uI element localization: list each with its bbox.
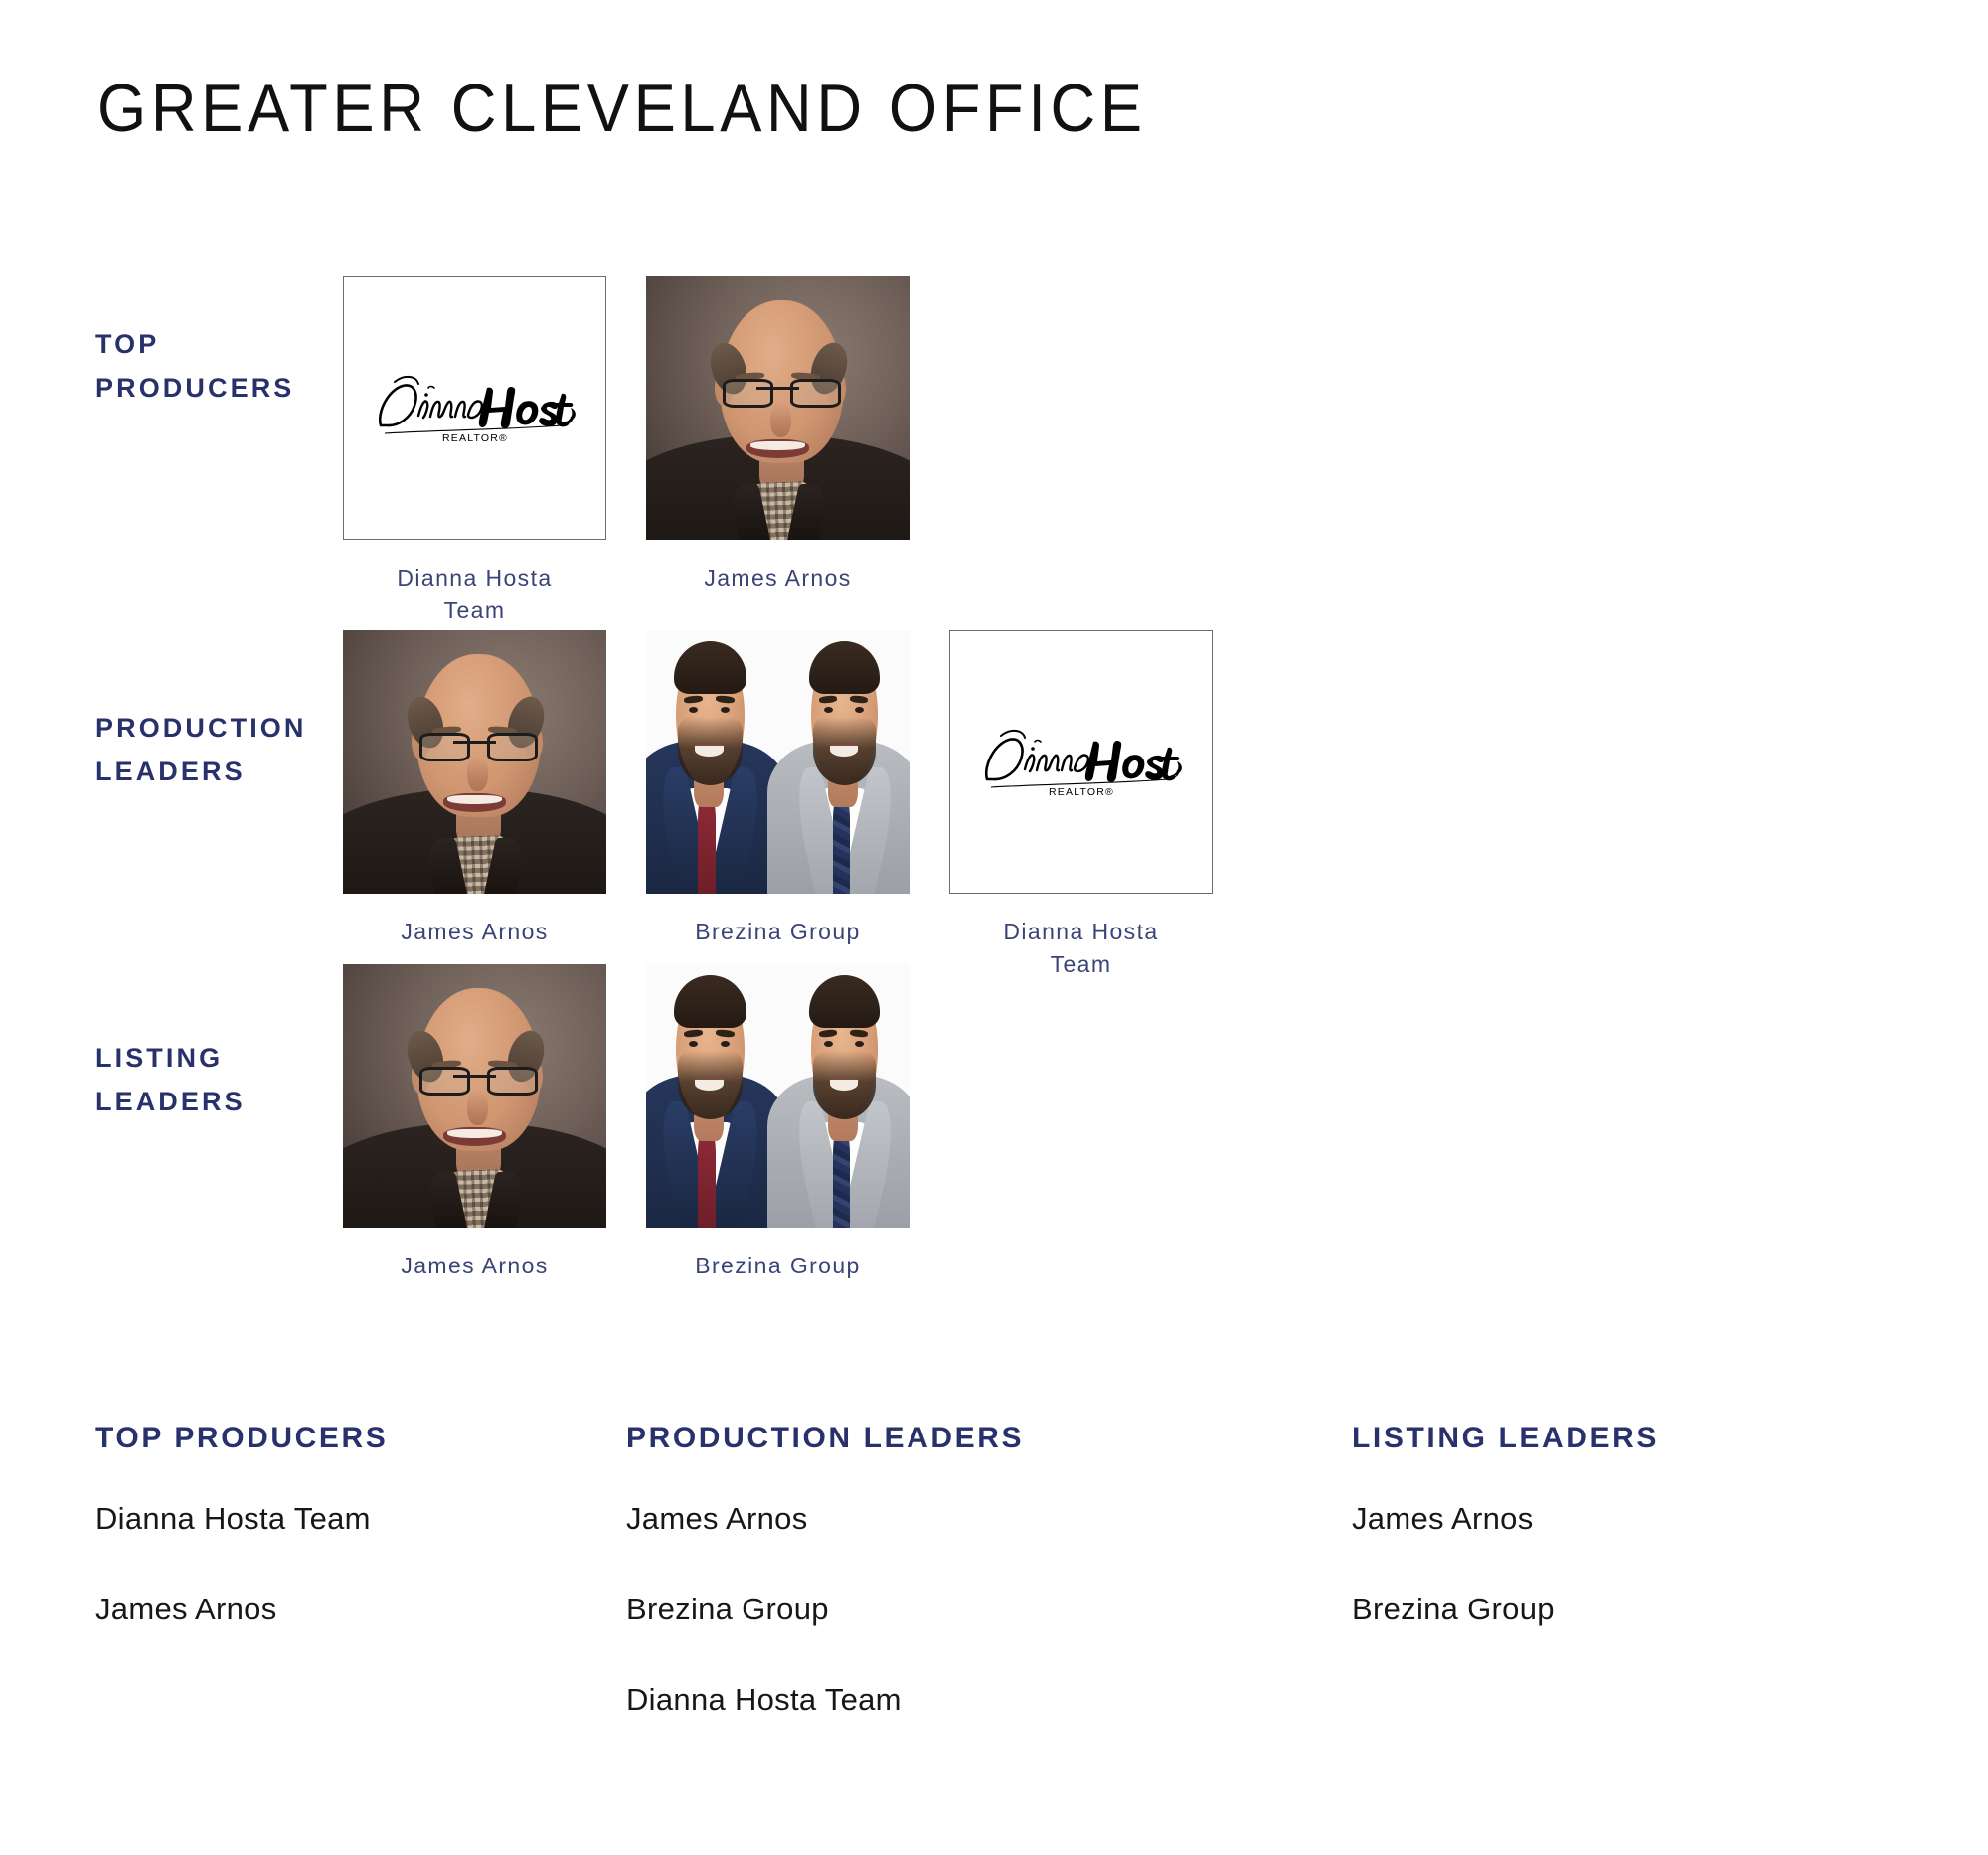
list-item: Brezina Group (1352, 1592, 1988, 1627)
award-tile[interactable]: REALTOR® Dianna Hosta Team (343, 276, 606, 626)
summary-column-top-producers: TOP PRODUCERS Dianna Hosta Team James Ar… (0, 1422, 626, 1772)
award-tile-caption: James Arnos (343, 1250, 606, 1282)
james-arnos-portrait (343, 964, 606, 1228)
row-label-listing-leaders: LISTING LEADERS (0, 944, 343, 1123)
dianna-hosta-logo: REALTOR® (344, 372, 605, 445)
summary-column-listing-leaders: LISTING LEADERS James Arnos Brezina Grou… (1352, 1422, 1988, 1772)
row-label-line-2: LEADERS (95, 751, 343, 794)
row-label-line-1: TOP (95, 323, 343, 367)
dianna-hosta-logo-tile[interactable]: REALTOR® (343, 276, 606, 540)
list-item: Dianna Hosta Team (626, 1682, 1352, 1718)
award-tile[interactable]: Brezina Group (646, 630, 910, 948)
award-rows: TOP PRODUCERS (0, 253, 1988, 1282)
brezina-group-portrait (646, 630, 910, 894)
award-tile-caption: Brezina Group (646, 916, 910, 948)
award-tile-caption-line-1: James Arnos (343, 916, 606, 948)
row-label-line-1: PRODUCTION (95, 707, 343, 751)
james-arnos-portrait (646, 276, 910, 540)
james-arnos-portrait (343, 630, 606, 894)
james-arnos-photo-tile[interactable] (646, 276, 910, 540)
brezina-group-photo-tile[interactable] (646, 630, 910, 894)
award-tile[interactable]: REALTOR® Dianna Hosta Team (949, 630, 1213, 980)
award-tile[interactable]: Brezina Group (646, 964, 910, 1282)
list-item: James Arnos (95, 1592, 626, 1627)
list-item: Dianna Hosta Team (95, 1501, 626, 1537)
logo-subtext: REALTOR® (1049, 786, 1114, 798)
award-tile[interactable]: James Arnos (343, 964, 606, 1282)
list-item: James Arnos (1352, 1501, 1988, 1537)
award-tile-caption: James Arnos (343, 916, 606, 948)
james-arnos-photo-tile[interactable] (343, 964, 606, 1228)
award-tile-caption-line-1: Brezina Group (646, 916, 910, 948)
award-tiles-production-leaders: James Arnos (343, 611, 1213, 980)
dianna-hosta-logo: REALTOR® (950, 726, 1212, 799)
award-row-production-leaders: PRODUCTION LEADERS (0, 611, 1988, 944)
page-title: GREATER CLEVELAND OFFICE (97, 70, 1147, 147)
award-tile-caption: Brezina Group (646, 1250, 910, 1282)
summary-column-production-leaders: PRODUCTION LEADERS James Arnos Brezina G… (626, 1422, 1352, 1772)
brezina-group-portrait (646, 964, 910, 1228)
award-tile[interactable]: James Arnos (646, 276, 910, 594)
summary-heading: TOP PRODUCERS (95, 1422, 626, 1455)
award-tiles-top-producers: REALTOR® Dianna Hosta Team (343, 253, 910, 626)
award-tile[interactable]: James Arnos (343, 630, 606, 948)
row-label-line-2: PRODUCERS (95, 367, 343, 411)
award-tile-caption-line-1: Brezina Group (646, 1250, 910, 1282)
award-tile-caption-line-1: James Arnos (646, 562, 910, 594)
summary-lists: TOP PRODUCERS Dianna Hosta Team James Ar… (0, 1422, 1988, 1772)
row-label-production-leaders: PRODUCTION LEADERS (0, 611, 343, 793)
row-label-top-producers: TOP PRODUCERS (0, 253, 343, 410)
award-tiles-listing-leaders: James Arnos (343, 944, 910, 1282)
james-arnos-photo-tile[interactable] (343, 630, 606, 894)
brezina-group-photo-tile[interactable] (646, 964, 910, 1228)
summary-heading: PRODUCTION LEADERS (626, 1422, 1352, 1455)
list-item: Brezina Group (626, 1592, 1352, 1627)
dianna-hosta-logo-tile[interactable]: REALTOR® (949, 630, 1213, 894)
award-tile-caption: James Arnos (646, 562, 910, 594)
list-item: James Arnos (626, 1501, 1352, 1537)
award-row-listing-leaders: LISTING LEADERS (0, 944, 1988, 1282)
summary-heading: LISTING LEADERS (1352, 1422, 1988, 1455)
row-label-line-2: LEADERS (95, 1081, 343, 1124)
logo-subtext: REALTOR® (442, 432, 508, 444)
award-tile-caption-line-1: Dianna Hosta (343, 562, 606, 594)
award-row-top-producers: TOP PRODUCERS (0, 253, 1988, 611)
row-label-line-1: LISTING (95, 1037, 343, 1081)
award-tile-caption-line-1: Dianna Hosta (949, 916, 1213, 948)
award-tile-caption-line-1: James Arnos (343, 1250, 606, 1282)
